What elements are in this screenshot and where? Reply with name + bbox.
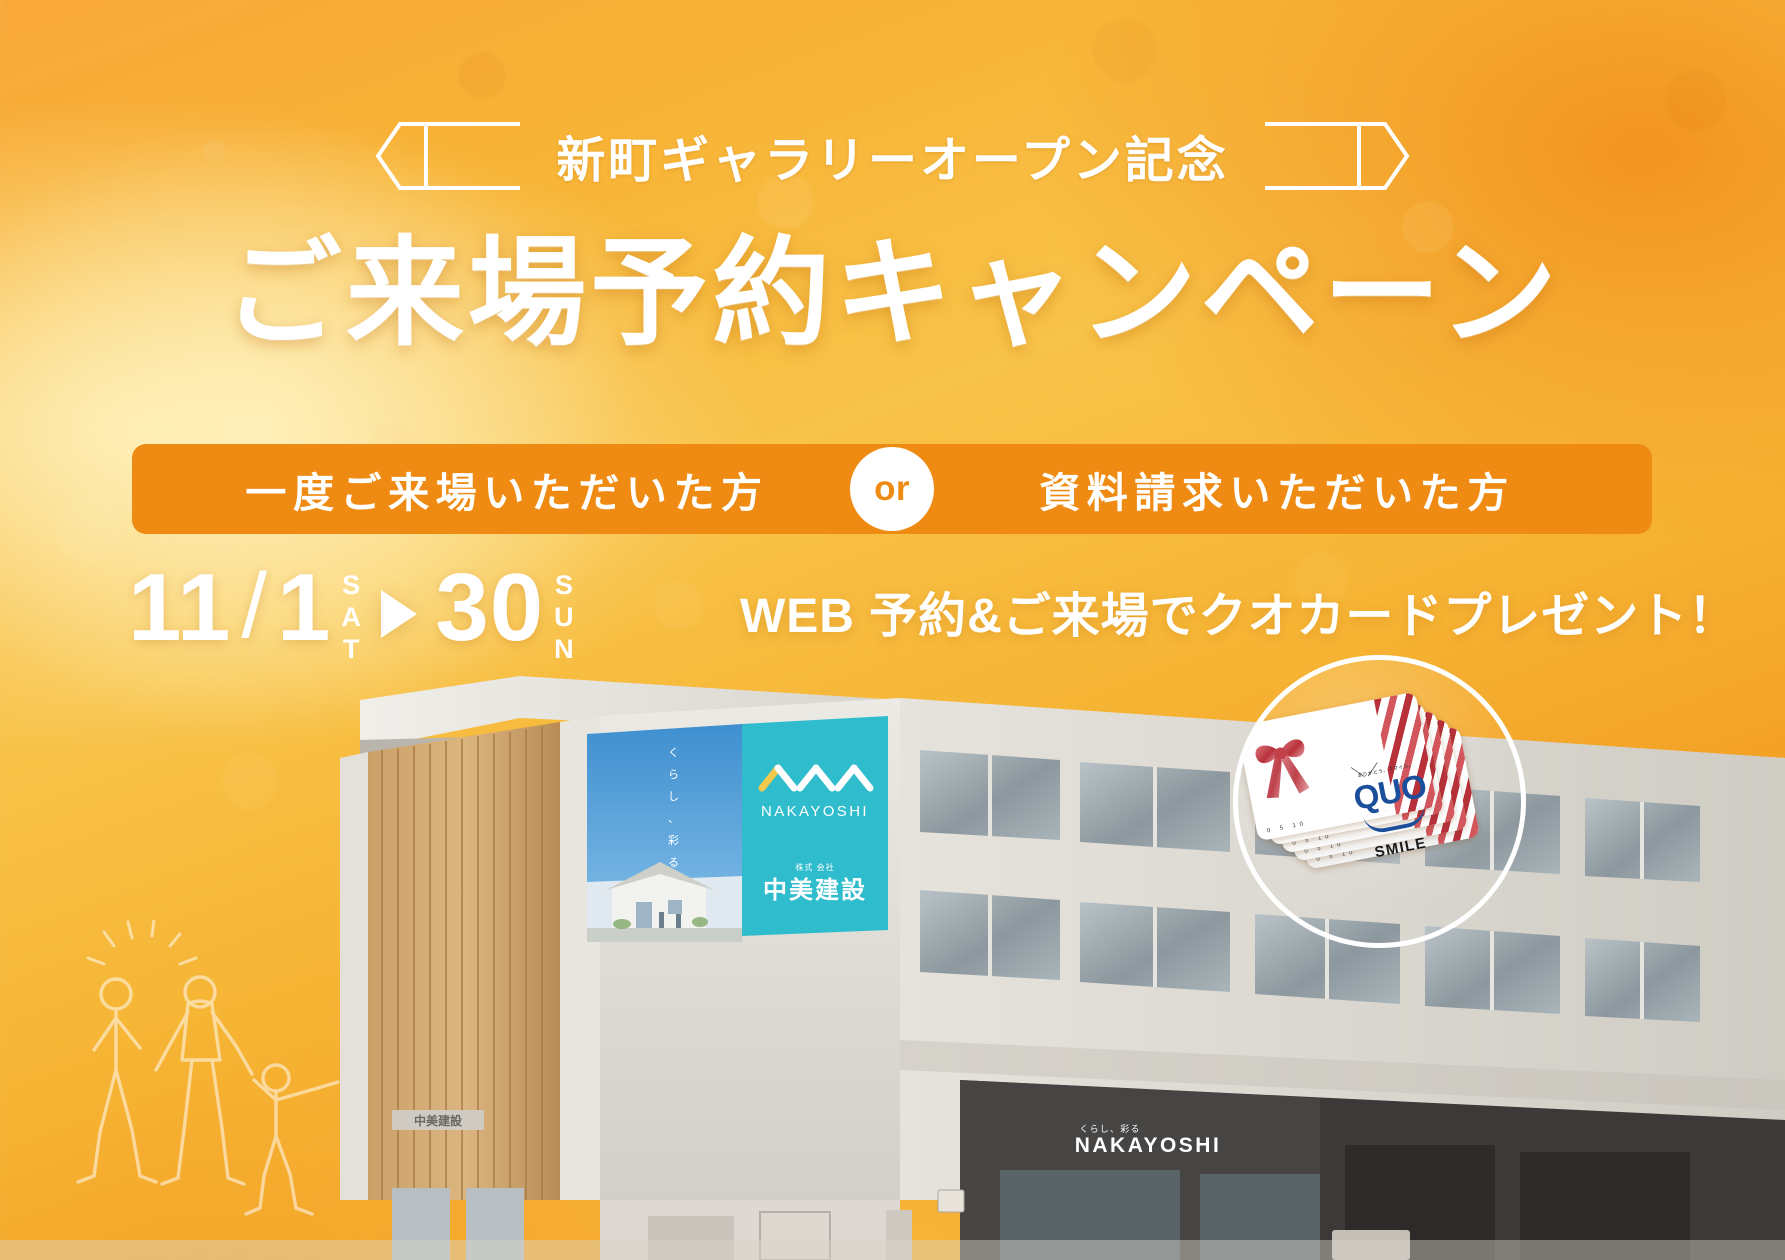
svg-text:、: 、 [668, 813, 679, 825]
shop-sign-small: くらし、彩る [1079, 1124, 1140, 1134]
quo-card-front: ＼／ ありがとう、スマイル。 QUO SMILE 0 5 10 [1237, 692, 1438, 842]
ribbon-flag-right-icon [1255, 120, 1415, 192]
quo-card-ruler-front: 0 5 10 [1267, 821, 1308, 835]
period-month: 11 [128, 560, 231, 656]
campaign-period: 11 / 1 S A T 30 S U N [128, 560, 574, 670]
signage-company-prefix: 株式 会社 [795, 862, 834, 872]
period-separator: / [241, 560, 267, 652]
eligibility-option-brochure: 資料請求いただいた方 [842, 444, 1652, 534]
quo-card-stack: 0 5 10 0 5 10 0 5 10 0 5 10 [1238, 660, 1521, 943]
period-start-dow: S A T [341, 570, 361, 666]
period-arrow-icon [381, 590, 417, 638]
svg-text:彩: 彩 [668, 834, 679, 847]
dow-char-n2: N [554, 634, 574, 666]
period-end-day: 30 [435, 560, 544, 656]
ribbon-title: 新町ギャラリーオープン記念 [556, 121, 1228, 192]
signage-logo-nakayoshi: NAKAYOSHI [761, 803, 869, 820]
dow-char-a1: A [341, 602, 361, 634]
dow-char-u2: U [554, 602, 574, 634]
gift-ribbon-bow-icon [1245, 725, 1322, 810]
page-title: ご来場予約キャンペーン [0, 228, 1785, 360]
eligibility-option-visited: 一度ご来場いただいた方 [132, 444, 942, 534]
period-start-day: 1 [277, 560, 331, 656]
quo-tagline: SMILE [1348, 830, 1453, 867]
dow-char-s2: S [555, 570, 574, 602]
wall-sign-company: 中美建設 [414, 1113, 463, 1128]
shop-sign-nakayoshi: NAKAYOSHI [1075, 1134, 1222, 1157]
ribbon-flag-left-icon [370, 120, 530, 192]
campaign-banner: く ら し 、 彩 る NAKAYOSHI 株式 会社 中美建設 [0, 0, 1785, 1260]
signage-company-name: 中美建設 [763, 876, 867, 904]
eligibility-left-label: 一度ご来場いただいた方 [245, 459, 768, 519]
period-end-dow: S U N [554, 570, 574, 666]
family-silhouette-illustration [70, 920, 400, 1250]
quo-card-badge: 0 5 10 0 5 10 0 5 10 0 5 10 [1233, 655, 1526, 948]
svg-text:し: し [668, 790, 679, 803]
or-connector-badge: or [850, 447, 934, 531]
dow-char-t1: T [343, 634, 360, 666]
ribbon-header: 新町ギャラリーオープン記念 [0, 118, 1785, 194]
svg-text:る: る [668, 857, 679, 869]
eligibility-right-label: 資料請求いただいた方 [1039, 459, 1515, 519]
quo-logo-block: ＼／ ありがとう、スマイル。 QUO SMILE [1334, 757, 1453, 866]
signage-vertical-tagline: く [668, 747, 679, 759]
dow-char-s1: S [342, 570, 361, 602]
eligibility-pill-bar: 一度ご来場いただいた方 資料請求いただいた方 or [132, 444, 1652, 534]
svg-text:ら: ら [668, 768, 679, 781]
offer-copy: WEB 予約&ご来場でクオカードプレゼント！ [740, 576, 1737, 646]
